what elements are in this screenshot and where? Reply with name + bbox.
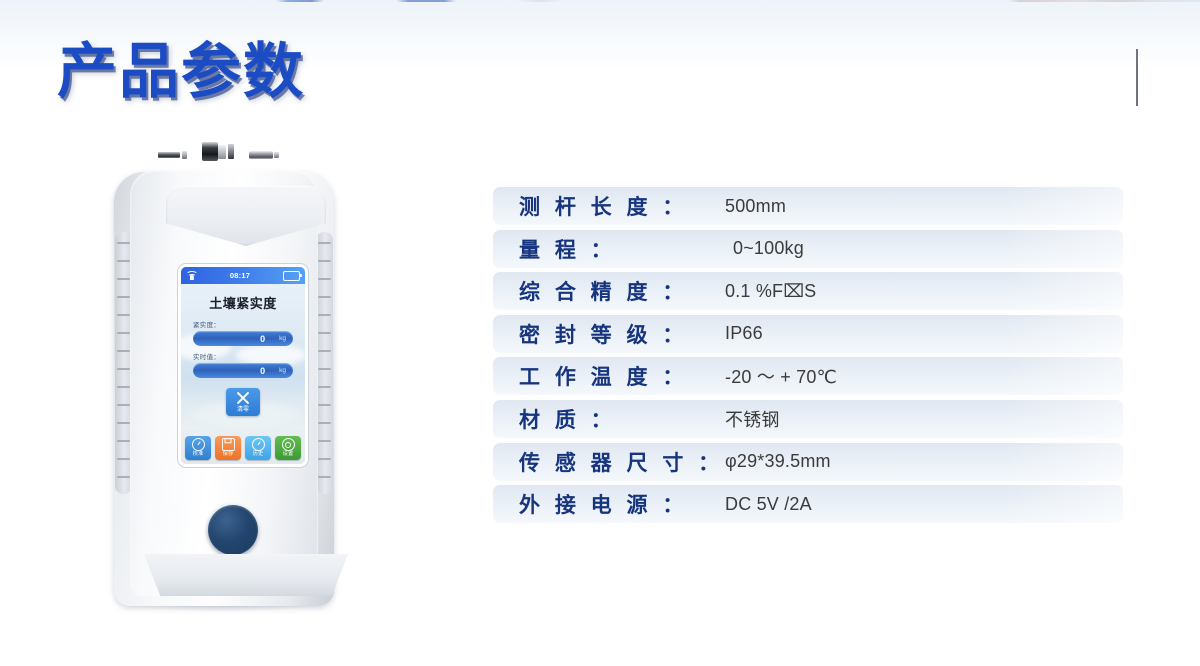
- product-device-image: 08:17 土壤紧实度 紧实度： 0 kg 实时值：: [104, 140, 344, 620]
- realtime-value-field: 0 kg: [193, 363, 293, 378]
- zero-button[interactable]: 清零: [226, 388, 260, 416]
- spec-table: 测 杆 长 度 ： 500mm 量 程 ： 0~100kg 综 合 精 度 ： …: [493, 187, 1123, 528]
- save-button-label: 保存: [215, 451, 241, 458]
- history-button[interactable]: 历史: [245, 436, 271, 460]
- spec-value: 500mm: [725, 196, 786, 217]
- field-value: 0: [260, 334, 265, 344]
- spec-label: 综 合 精 度 ：: [493, 276, 725, 306]
- calibrate-button[interactable]: 校准: [185, 436, 211, 460]
- spec-label: 量 程 ：: [493, 234, 725, 264]
- field-value: 0: [260, 366, 265, 376]
- device-grip-right: [316, 232, 333, 494]
- spec-value: 0.1 %F⌧S: [725, 281, 816, 302]
- spec-value: φ29*39.5mm: [725, 451, 831, 472]
- settings-button[interactable]: 设置: [275, 436, 301, 460]
- disk-save-icon: [222, 438, 235, 451]
- spec-label: 外 接 电 源 ：: [493, 489, 725, 519]
- spec-value: DC 5V /2A: [725, 494, 812, 515]
- connector-port: [218, 145, 226, 159]
- device-front-face: 08:17 土壤紧实度 紧实度： 0 kg 实时值：: [130, 170, 318, 596]
- settings-button-label: 设置: [275, 451, 301, 458]
- clock-icon: [252, 438, 265, 451]
- spec-value: IP66: [725, 323, 763, 344]
- save-button[interactable]: 保存: [215, 436, 241, 460]
- table-row: 传 感 器 尺 寸 ： φ29*39.5mm: [493, 443, 1123, 481]
- connector-port: [228, 144, 234, 159]
- status-time: 08:17: [230, 271, 250, 280]
- spec-label: 材 质 ：: [493, 404, 725, 434]
- page-title: 产品参数: [57, 42, 305, 102]
- spec-value: 不锈钢: [725, 406, 780, 432]
- screen-content: 土壤紧实度 紧实度： 0 kg 实时值： 0 kg: [181, 284, 305, 464]
- spec-label: 传 感 器 尺 寸 ：: [493, 447, 725, 477]
- spec-label: 测 杆 长 度 ：: [493, 191, 725, 221]
- wifi-icon: [186, 271, 197, 280]
- zero-button-label: 清零: [226, 406, 260, 414]
- title-accent-divider: [1136, 49, 1138, 106]
- gauge-icon: [192, 438, 205, 451]
- screen-status-bar: 08:17: [181, 267, 305, 284]
- table-row: 材 质 ： 不锈钢: [493, 400, 1123, 438]
- spec-value: -20 ～ + 70℃: [725, 363, 837, 389]
- device-body: 08:17 土壤紧实度 紧实度： 0 kg 实时值：: [108, 158, 340, 606]
- field-label: 实时值：: [193, 351, 293, 361]
- table-row: 测 杆 长 度 ： 500mm: [493, 187, 1123, 225]
- field-unit: kg: [279, 367, 286, 374]
- table-row: 量 程 ： 0~100kg: [493, 230, 1123, 268]
- spec-label: 工 作 温 度 ：: [493, 361, 725, 391]
- field-unit: kg: [279, 335, 286, 342]
- compaction-value-field: 0 kg: [193, 331, 293, 346]
- field-label: 紧实度：: [193, 319, 293, 329]
- measurement-fields: 紧实度： 0 kg 实时值： 0 kg: [181, 312, 305, 378]
- screen-title: 土壤紧实度: [181, 284, 305, 312]
- table-row: 外 接 电 源 ： DC 5V /2A: [493, 485, 1123, 523]
- table-row: 密 封 等 级 ： IP66: [493, 315, 1123, 353]
- spec-label: 密 封 等 级 ：: [493, 319, 725, 349]
- battery-icon: [283, 271, 300, 281]
- device-lcd-screen[interactable]: 08:17 土壤紧实度 紧实度： 0 kg 实时值：: [181, 267, 305, 464]
- spec-value: 0~100kg: [725, 238, 804, 259]
- page-top-sliver: [0, 0, 1200, 2]
- device-top-hood: [166, 186, 326, 246]
- calibrate-button-label: 校准: [185, 451, 211, 458]
- history-button-label: 历史: [245, 451, 271, 458]
- table-row: 综 合 精 度 ： 0.1 %F⌧S: [493, 272, 1123, 310]
- close-x-icon: [235, 390, 251, 406]
- power-button[interactable]: [208, 505, 258, 555]
- table-row: 工 作 温 度 ： -20 ～ + 70℃: [493, 357, 1123, 395]
- screen-toolbar: 校准 保存 历史 设置: [185, 436, 301, 460]
- device-bottom-bevel: [144, 554, 348, 596]
- gear-icon: [282, 438, 295, 451]
